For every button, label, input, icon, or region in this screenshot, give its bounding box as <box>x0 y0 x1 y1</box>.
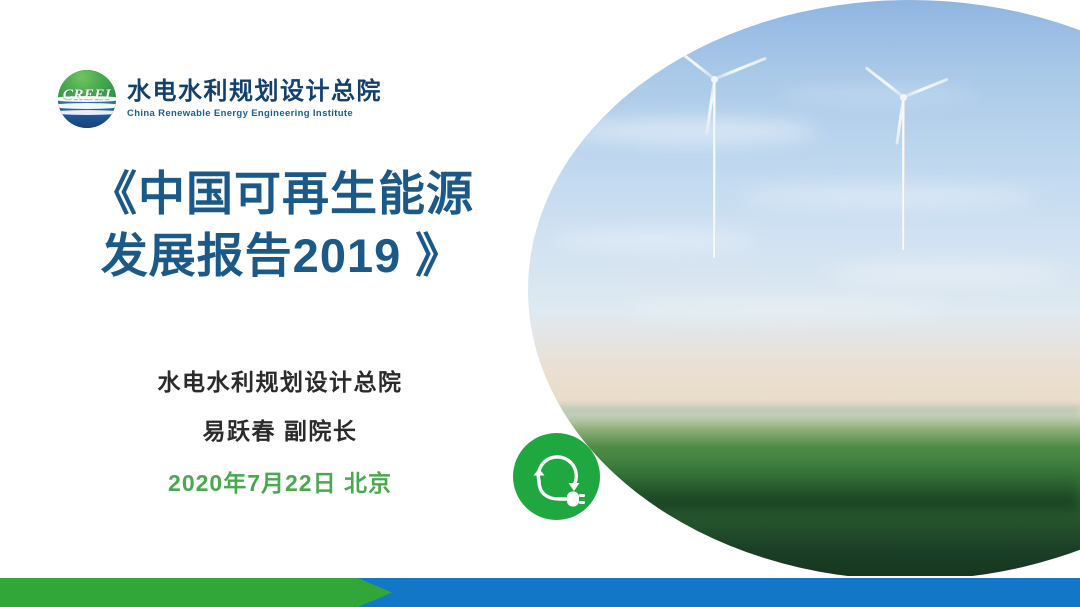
presenter-name-title: 易跃春 副院长 <box>60 419 500 444</box>
emblem-acronym: CREEI <box>58 87 116 104</box>
slide-title-line-2: 发展报告2019 》 <box>62 225 502 287</box>
renewable-energy-badge <box>513 433 600 520</box>
emblem-wave <box>58 110 116 115</box>
creei-logo: CREEI 水电水利规划设计总院 China Renewable Energy … <box>58 70 382 128</box>
presenter-block: 水电水利规划设计总院 易跃春 副院长 2020年7月22日 北京 <box>60 370 500 496</box>
presenter-organization: 水电水利规划设计总院 <box>60 370 500 395</box>
cloud-icon <box>828 262 1068 284</box>
logo-wordmark: 水电水利规划设计总院 China Renewable Energy Engine… <box>127 79 382 118</box>
hero-image <box>528 0 1080 580</box>
footer-bar-green <box>0 578 392 607</box>
turbine-hub <box>900 94 907 101</box>
creei-emblem-icon: CREEI <box>58 70 116 128</box>
presentation-date-place: 2020年7月22日 北京 <box>60 471 500 496</box>
wind-turbine-icon <box>706 62 722 262</box>
turbine-hub <box>711 76 718 83</box>
cloud-icon <box>568 118 818 144</box>
turbine-mast <box>713 80 716 258</box>
cloud-icon <box>548 232 758 248</box>
title-slide: CREEI 水电水利规划设计总院 China Renewable Energy … <box>0 0 1080 607</box>
slide-title-line-1: 《中国可再生能源 <box>62 163 502 225</box>
field-foreground-shadow <box>528 470 1080 510</box>
logo-name-en: China Renewable Energy Engineering Insti… <box>127 108 382 119</box>
renewable-energy-plug-icon <box>513 433 600 520</box>
wind-turbine-icon <box>896 80 910 255</box>
slide-title: 《中国可再生能源 发展报告2019 》 <box>62 163 502 287</box>
horizon-ridge <box>528 406 1080 420</box>
cloud-icon <box>778 88 978 102</box>
cloud-icon <box>738 186 1038 206</box>
cloud-icon <box>618 300 948 318</box>
logo-name-cn: 水电水利规划设计总院 <box>127 79 382 104</box>
turbine-mast <box>902 98 905 250</box>
